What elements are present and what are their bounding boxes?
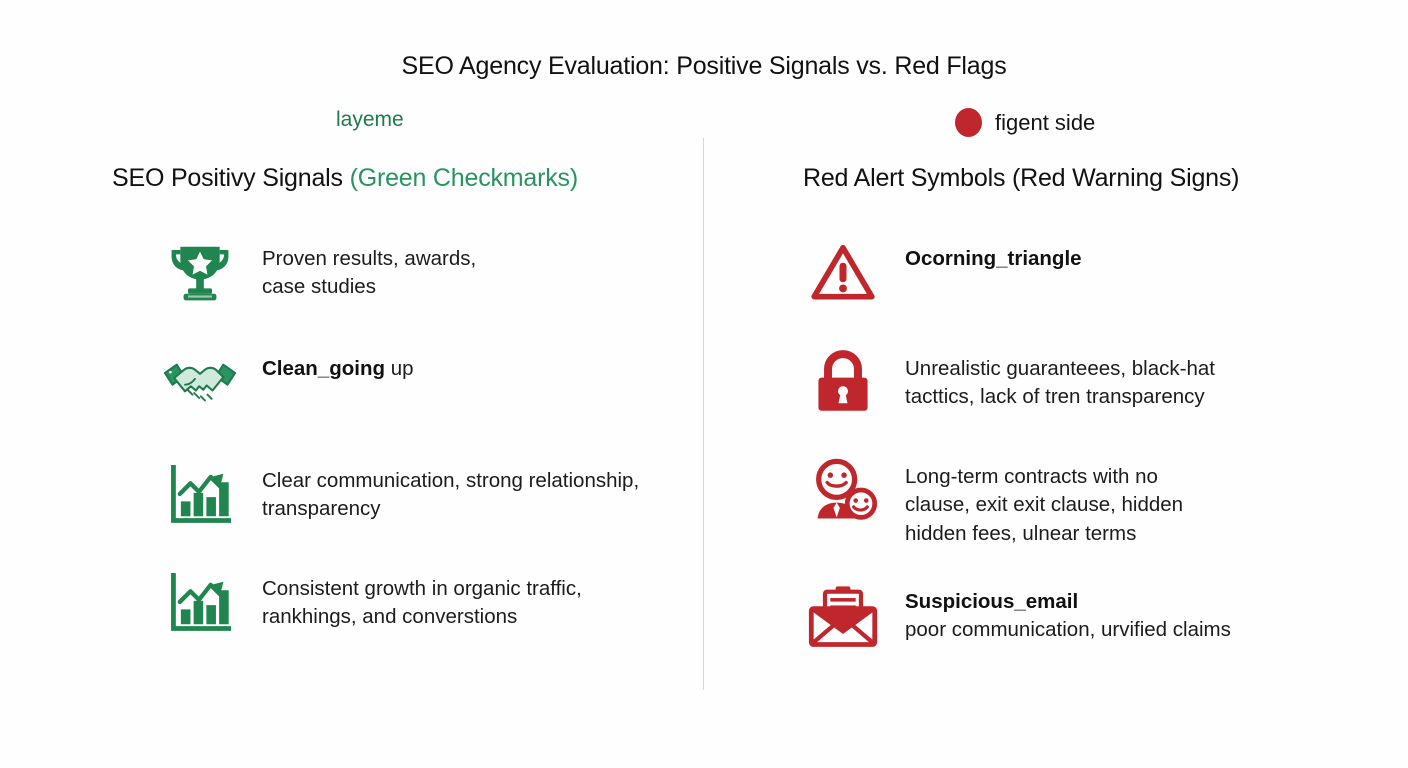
legend-right: figent side [955,108,1095,137]
padlock-icon [803,343,883,423]
list-item-line2: clause, exit exit clause, hidden [905,491,1183,519]
positive-items-list: Proven results, awards, case studies [112,233,692,643]
column-divider [703,138,704,690]
list-item-line2: poor communication, urvified claims [905,616,1231,644]
list-item-text: Unrealistic guaranteees, black-hat tactt… [905,343,1215,412]
list-item-line1: Proven results, awards, [262,247,476,270]
left-section-heading: SEO Positivy Signals (Green Checkmarks) [112,164,692,193]
list-item-line3: hidden fees, ulnear terms [905,520,1183,548]
bar-chart-growth-icon [160,563,240,643]
list-item[interactable]: Suspicious_email poor communication, urv… [803,576,1323,656]
list-item[interactable]: Long-term contracts with no clause, exit… [803,451,1323,548]
list-item-line1: Ocorning_triangle [905,247,1082,270]
infographic-canvas: SEO Agency Evaluation: Positive Signals … [0,0,1408,768]
list-item-line2: transparency [262,495,639,523]
left-heading-main: SEO Positivy Signals [112,164,343,192]
list-item-text: Ocorning_triangle [905,233,1082,273]
list-item-line2: rankhings, and converstions [262,603,582,631]
red-flags-column: Red Alert Symbols (Red Warning Signs) Oc… [803,164,1323,684]
list-item-line2: tacttics, lack of tren transparency [905,383,1215,411]
right-section-heading: Red Alert Symbols (Red Warning Signs) [803,164,1323,193]
list-item-line2: up [391,357,414,380]
suspicious-email-icon [803,576,883,656]
list-item-text: Suspicious_email poor communication, urv… [905,576,1231,645]
list-item[interactable]: Consistent growth in organic traffic, ra… [160,563,692,643]
list-item-text: Long-term contracts with no clause, exit… [905,451,1183,548]
list-item[interactable]: Clear communication, strong relationship… [160,455,692,535]
legend-right-label: figent side [995,110,1095,136]
red-circle-icon [955,108,982,137]
page-title: SEO Agency Evaluation: Positive Signals … [0,52,1408,81]
handshake-icon [160,343,240,423]
list-item-line1: Clean_going [262,357,385,380]
bar-chart-growth-icon [160,455,240,535]
positive-signals-column: SEO Positivy Signals (Green Checkmarks) [112,164,692,671]
list-item-line1: Consistent growth in organic traffic, [262,577,582,600]
list-item[interactable]: Clean_going up [160,343,692,423]
list-item-text: Proven results, awards, case studies [262,233,476,302]
list-item-text: Consistent growth in organic traffic, ra… [262,563,582,632]
list-item-line1: Long-term contracts with no [905,465,1158,488]
list-item[interactable]: Ocorning_triangle [803,233,1323,313]
legend-left-label: layeme [336,108,404,132]
list-item-line1: Clear communication, strong relationship… [262,469,639,492]
list-item-line1: Suspicious_email [905,588,1231,616]
trophy-icon [160,233,240,313]
list-item[interactable]: Proven results, awards, case studies [160,233,692,313]
list-item-text: Clear communication, strong relationship… [262,455,639,524]
list-item[interactable]: Unrealistic guaranteees, black-hat tactt… [803,343,1323,423]
list-item-text: Clean_going up [262,343,414,383]
list-item-line2: case studies [262,273,476,301]
left-heading-accent: (Green Checkmarks) [350,164,578,192]
warning-triangle-icon [803,233,883,313]
two-people-icon [803,451,883,531]
list-item-line1: Unrealistic guaranteees, black-hat [905,357,1215,380]
red-flag-items-list: Ocorning_triangle Unrealistic guaranteee… [803,233,1323,656]
